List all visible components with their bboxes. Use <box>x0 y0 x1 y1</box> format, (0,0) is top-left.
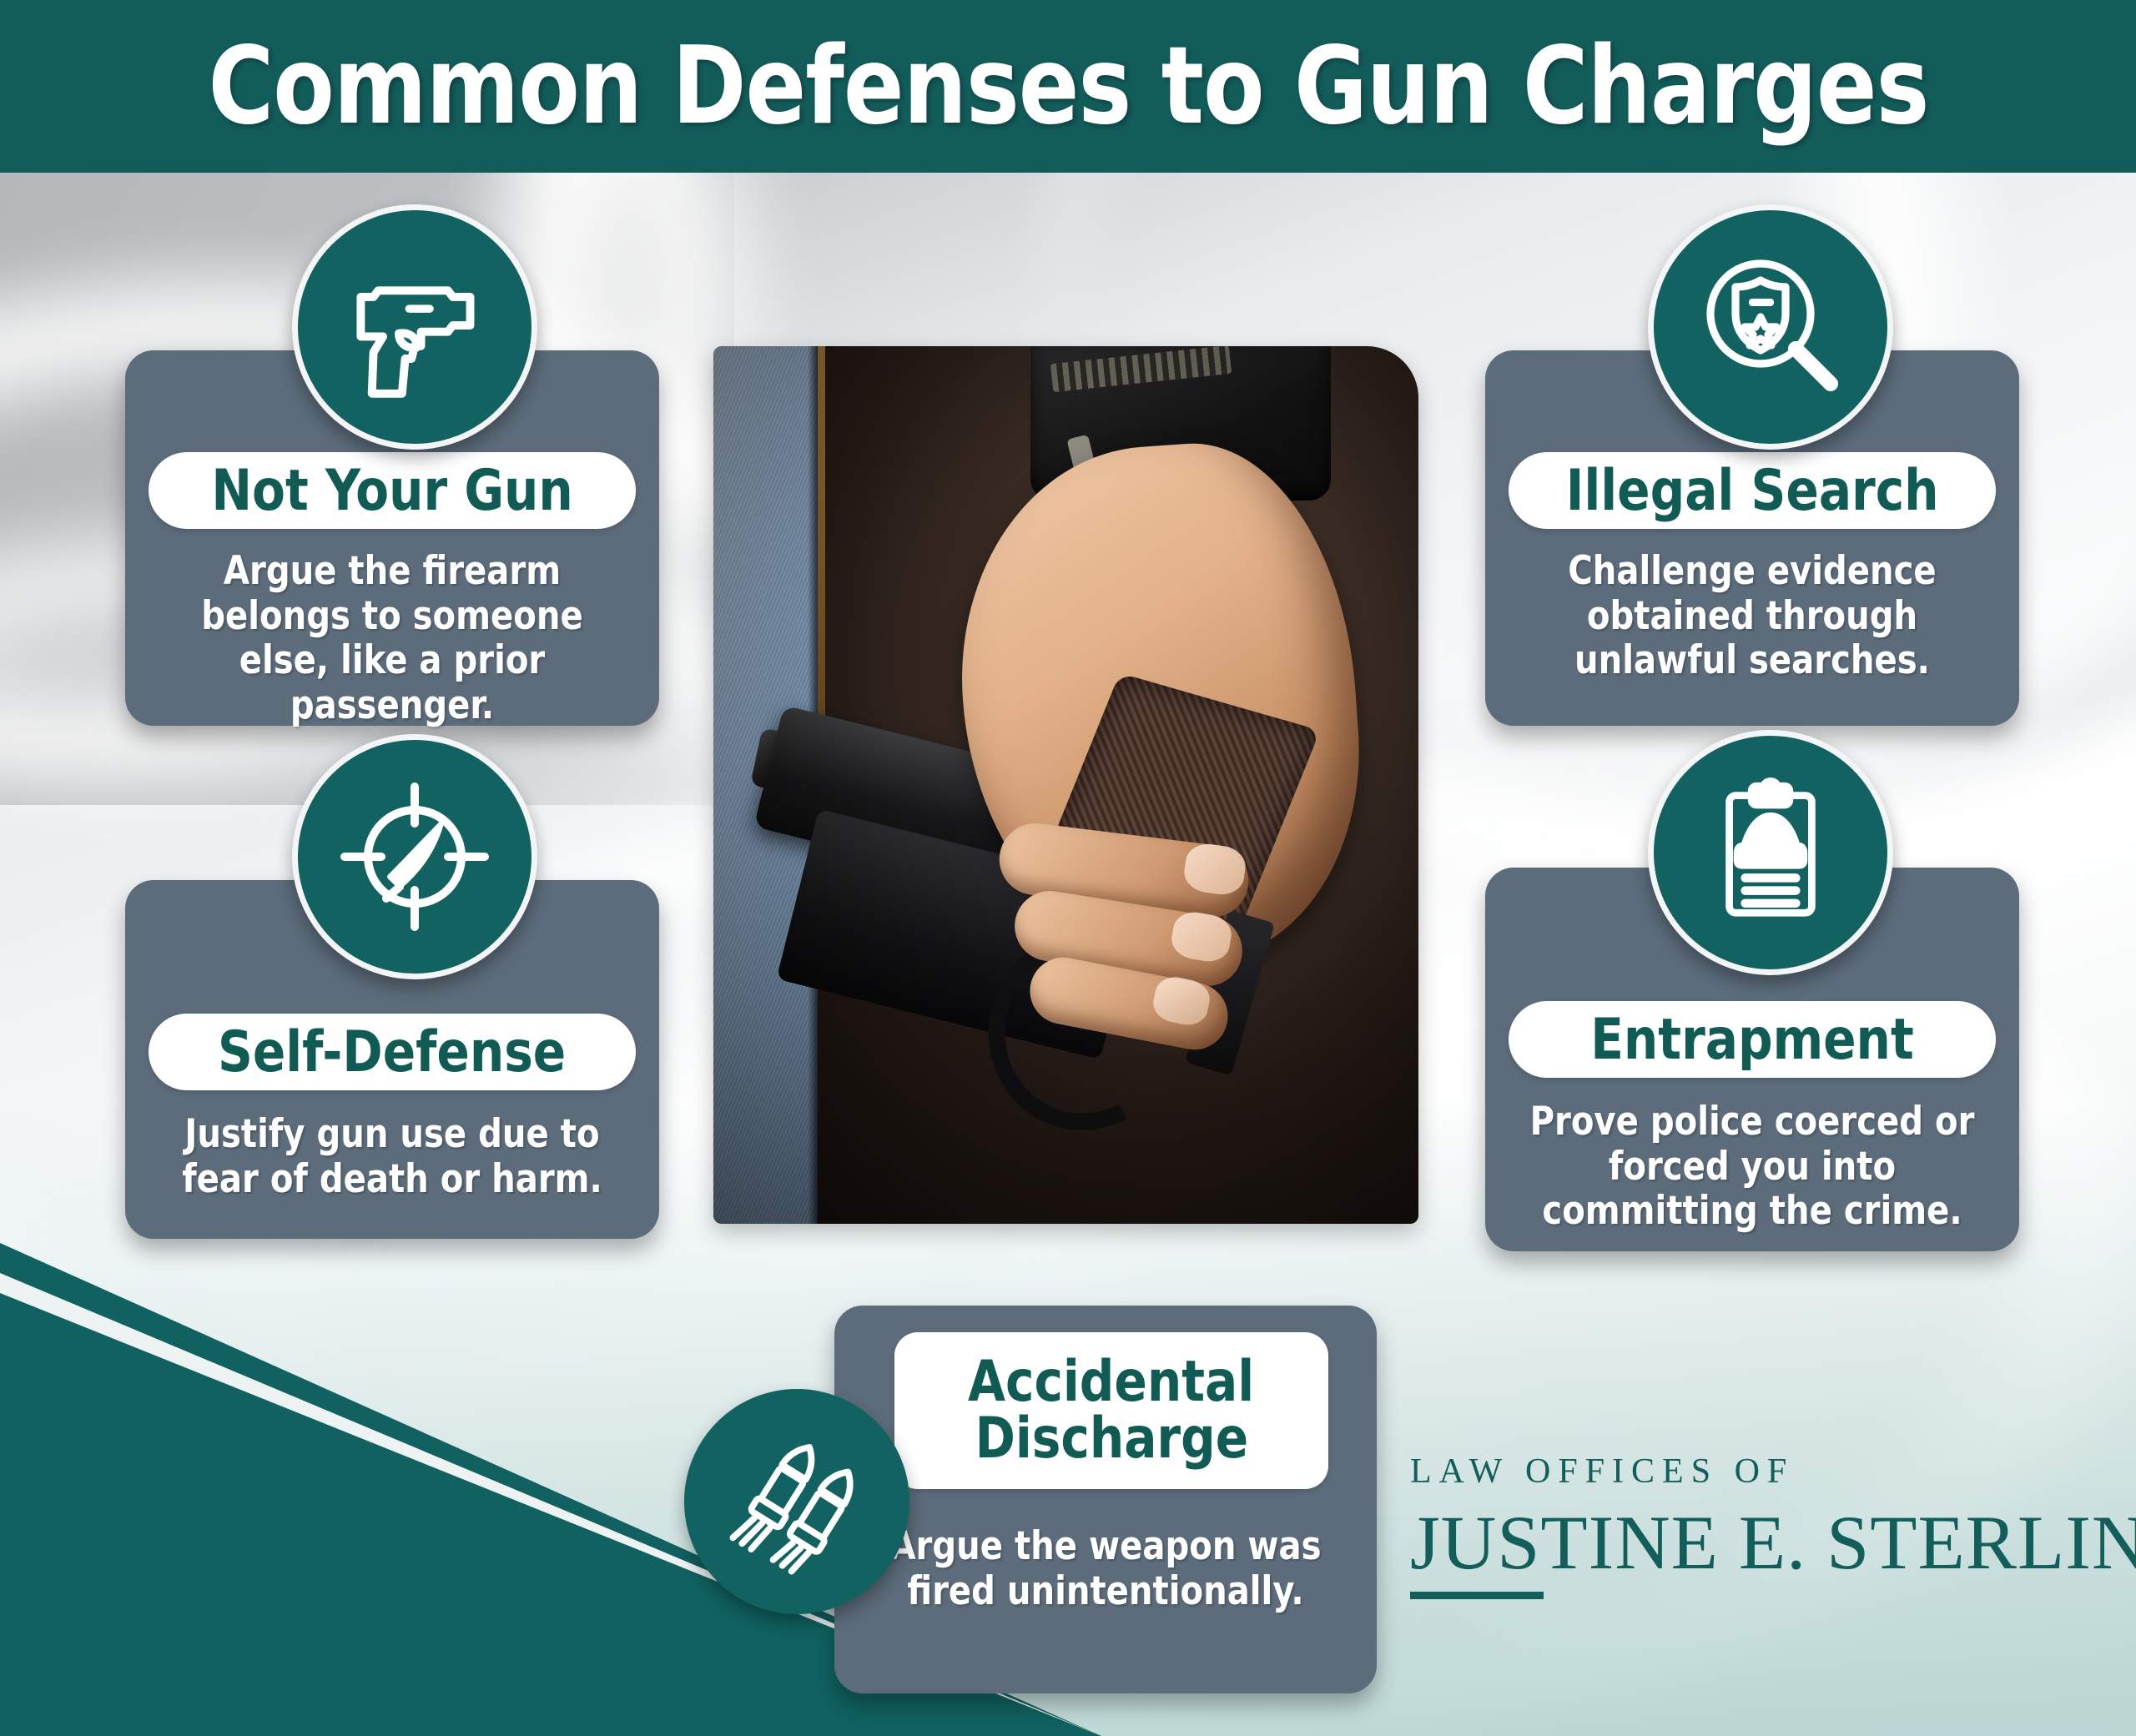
card-body-text: Argue the firearm belongs to someone els… <box>153 549 632 727</box>
pistol-icon <box>292 204 537 450</box>
card-body-text: Challenge evidence obtained through unla… <box>1513 549 1992 683</box>
card-title-pill: Entrapment <box>1509 1001 1996 1078</box>
card-title: Entrapment <box>1590 1007 1914 1073</box>
card-body-text: Prove police coerced or forced you into … <box>1513 1099 1992 1234</box>
firm-logo[interactable]: LAW OFFICES OF JUSTINE E. STERLING <box>1410 1452 2078 1599</box>
badge-magnifier-icon <box>1648 204 1893 450</box>
logo-line-1: LAW OFFICES OF <box>1410 1452 2078 1492</box>
police-clipboard-icon <box>1648 730 1893 975</box>
logo-underline-accent <box>1410 1592 1544 1599</box>
bullets-icon <box>684 1389 909 1614</box>
header-bar: Common Defenses to Gun Charges <box>0 0 2136 173</box>
card-title-pill: Accidental Discharge <box>894 1332 1328 1489</box>
logo-line-2: JUSTINE E. STERLING <box>1410 1498 2078 1587</box>
card-body-text: Justify gun use due to fear of death or … <box>153 1112 632 1201</box>
card-title: Not Your Gun <box>211 458 572 524</box>
card-title-line1: Accidental <box>968 1354 1254 1411</box>
card-title-pill: Self-Defense <box>149 1014 636 1090</box>
hero-photo <box>713 346 1418 1224</box>
card-body-text: Argue the weapon was fired unintentional… <box>862 1524 1348 1613</box>
infographic-canvas: Common Defenses to Gun Charges Not Your … <box>0 0 2136 1736</box>
card-title: Illegal Search <box>1566 458 1939 524</box>
crosshair-knife-icon <box>292 734 537 979</box>
card-title-pill: Illegal Search <box>1509 452 1996 529</box>
card-title: Self-Defense <box>218 1019 566 1085</box>
defense-card-accidental-discharge[interactable]: Accidental Discharge Argue the weapon wa… <box>834 1306 1377 1693</box>
card-title-line2: Discharge <box>975 1411 1248 1467</box>
card-title-pill: Not Your Gun <box>149 452 636 529</box>
page-title: Common Defenses to Gun Charges <box>208 24 1928 148</box>
